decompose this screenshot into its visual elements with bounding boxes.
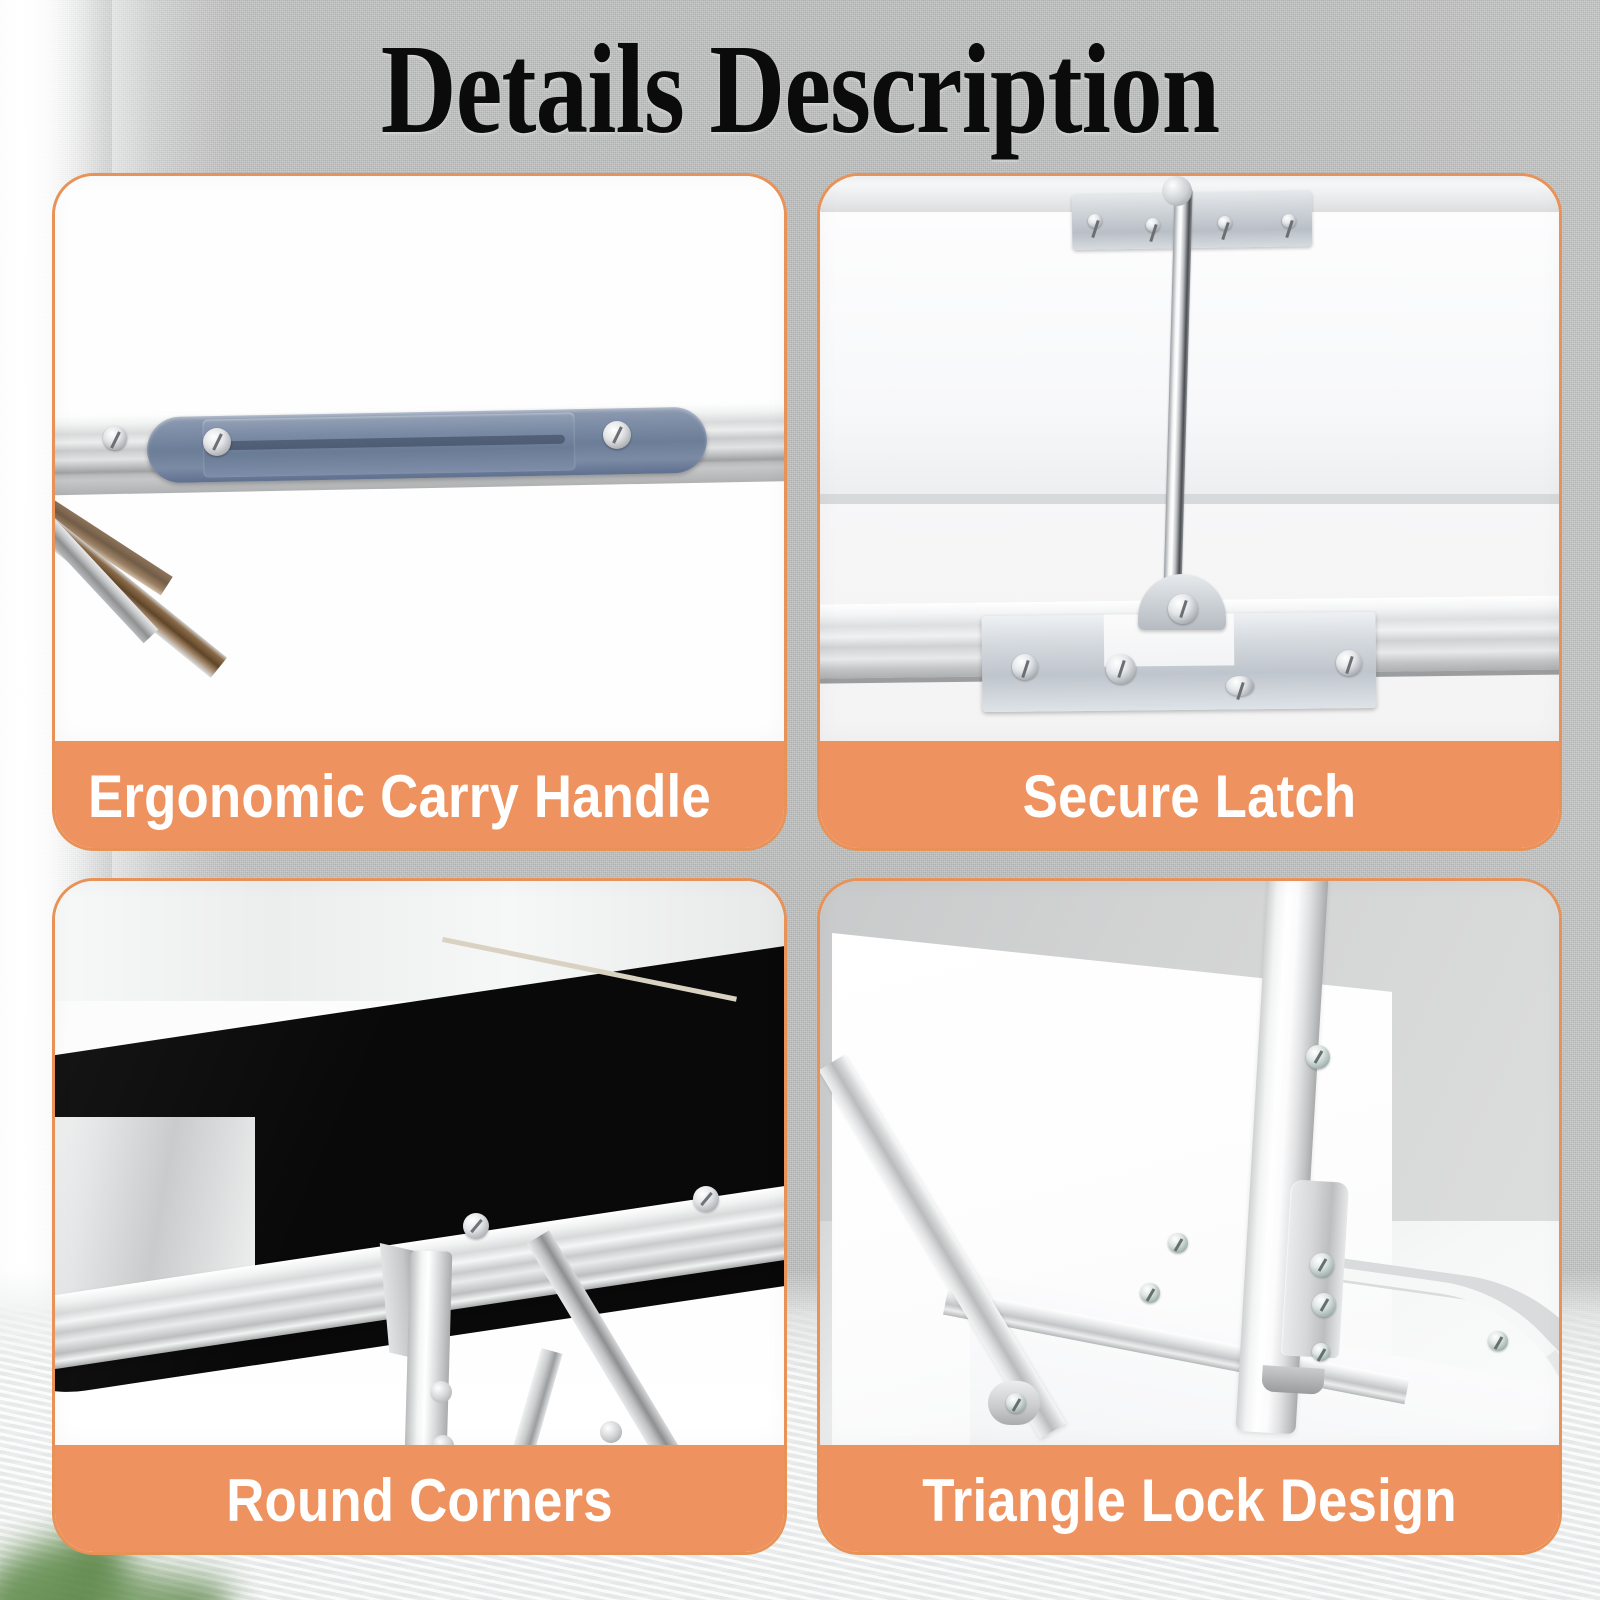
caption-bar-triangle-lock-design: Triangle Lock Design	[817, 1445, 1562, 1555]
caption-bar-round-corners: Round Corners	[52, 1445, 787, 1555]
feature-card-triangle-lock-design[interactable]: Triangle Lock Design	[817, 878, 1562, 1555]
feature-card-secure-latch[interactable]: Secure Latch	[817, 173, 1562, 851]
caption-bar-secure-latch: Secure Latch	[817, 741, 1562, 851]
feature-card-ergonomic-carry-handle[interactable]: Ergonomic Carry Handle	[52, 173, 787, 851]
caption-label: Ergonomic Carry Handle	[52, 767, 711, 827]
photo-triangle-lock-design	[820, 881, 1559, 1445]
photo-round-corners	[55, 881, 784, 1445]
feature-card-round-corners[interactable]: Round Corners	[52, 878, 787, 1555]
infographic-page: Details Description Ergonomic Carry Hand…	[0, 0, 1600, 1600]
caption-label: Round Corners	[95, 1471, 744, 1531]
caption-label: Triangle Lock Design	[861, 1471, 1518, 1531]
caption-bar-ergonomic-carry-handle: Ergonomic Carry Handle	[52, 741, 787, 851]
page-title: Details Description	[144, 24, 1456, 155]
caption-label: Secure Latch	[861, 767, 1518, 827]
photo-ergonomic-carry-handle	[55, 176, 784, 741]
photo-secure-latch	[820, 176, 1559, 741]
